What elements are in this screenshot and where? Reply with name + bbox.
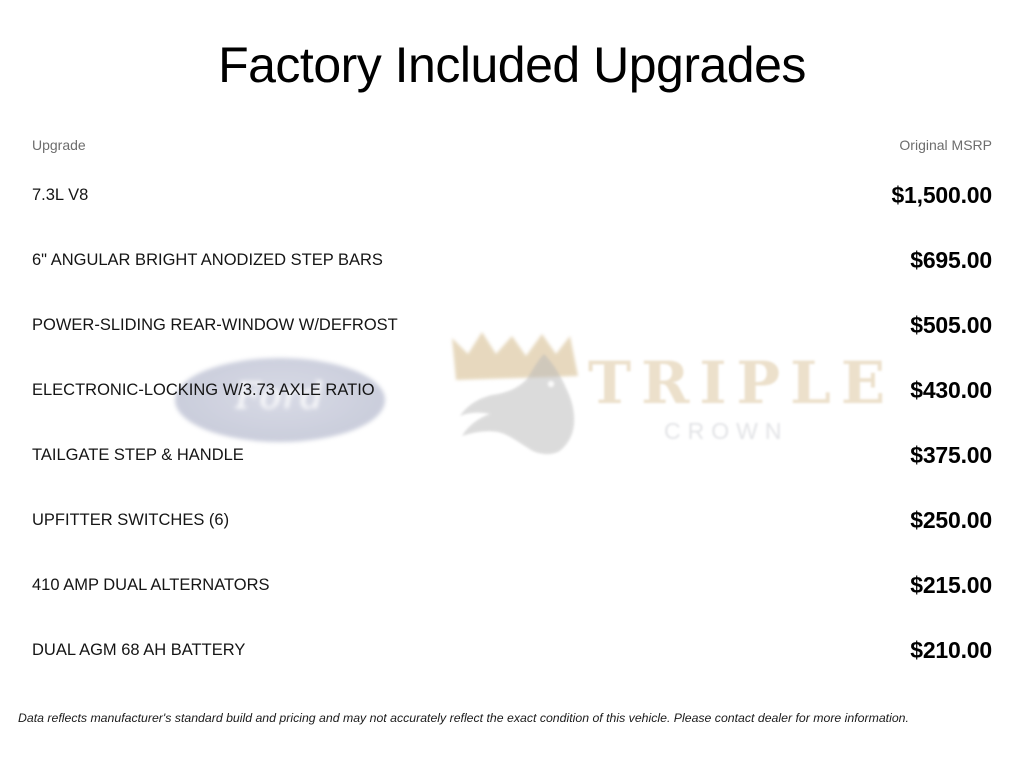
- upgrades-page: Ford TRIPLE CROWN Factory Included Upgra…: [0, 0, 1024, 768]
- table-row: UPFITTER SWITCHES (6) $250.00: [32, 487, 992, 552]
- upgrade-name: POWER-SLIDING REAR-WINDOW W/DEFROST: [32, 292, 652, 357]
- content-area: Factory Included Upgrades Upgrade Origin…: [0, 0, 1024, 768]
- upgrade-name: UPFITTER SWITCHES (6): [32, 487, 652, 552]
- table-row: POWER-SLIDING REAR-WINDOW W/DEFROST $505…: [32, 292, 992, 357]
- upgrade-price: $250.00: [652, 487, 992, 552]
- upgrade-price: $695.00: [652, 227, 992, 292]
- upgrade-name: TAILGATE STEP & HANDLE: [32, 422, 652, 487]
- upgrade-price: $210.00: [652, 617, 992, 682]
- upgrade-price: $215.00: [652, 552, 992, 617]
- disclaimer-text: Data reflects manufacturer's standard bu…: [0, 710, 1024, 726]
- upgrade-price: $1,500.00: [652, 162, 992, 227]
- upgrade-name: 7.3L V8: [32, 162, 652, 227]
- upgrade-price: $430.00: [652, 357, 992, 422]
- column-header-original-msrp: Original MSRP: [652, 136, 992, 162]
- upgrade-name: 410 AMP DUAL ALTERNATORS: [32, 552, 652, 617]
- table-row: ELECTRONIC-LOCKING W/3.73 AXLE RATIO $43…: [32, 357, 992, 422]
- factory-upgrades-table: Upgrade Original MSRP 7.3L V8 $1,500.00 …: [32, 136, 992, 682]
- table-row: DUAL AGM 68 AH BATTERY $210.00: [32, 617, 992, 682]
- upgrade-name: 6" ANGULAR BRIGHT ANODIZED STEP BARS: [32, 227, 652, 292]
- table-row: 410 AMP DUAL ALTERNATORS $215.00: [32, 552, 992, 617]
- table-body: 7.3L V8 $1,500.00 6" ANGULAR BRIGHT ANOD…: [32, 162, 992, 682]
- table-header-row: Upgrade Original MSRP: [32, 136, 992, 162]
- upgrade-price: $505.00: [652, 292, 992, 357]
- table-header: Upgrade Original MSRP: [32, 136, 992, 162]
- upgrade-name: DUAL AGM 68 AH BATTERY: [32, 617, 652, 682]
- column-header-upgrade: Upgrade: [32, 136, 652, 162]
- table-row: 6" ANGULAR BRIGHT ANODIZED STEP BARS $69…: [32, 227, 992, 292]
- upgrade-price: $375.00: [652, 422, 992, 487]
- table-row: TAILGATE STEP & HANDLE $375.00: [32, 422, 992, 487]
- page-title: Factory Included Upgrades: [32, 0, 992, 94]
- table-row: 7.3L V8 $1,500.00: [32, 162, 992, 227]
- upgrade-name: ELECTRONIC-LOCKING W/3.73 AXLE RATIO: [32, 357, 652, 422]
